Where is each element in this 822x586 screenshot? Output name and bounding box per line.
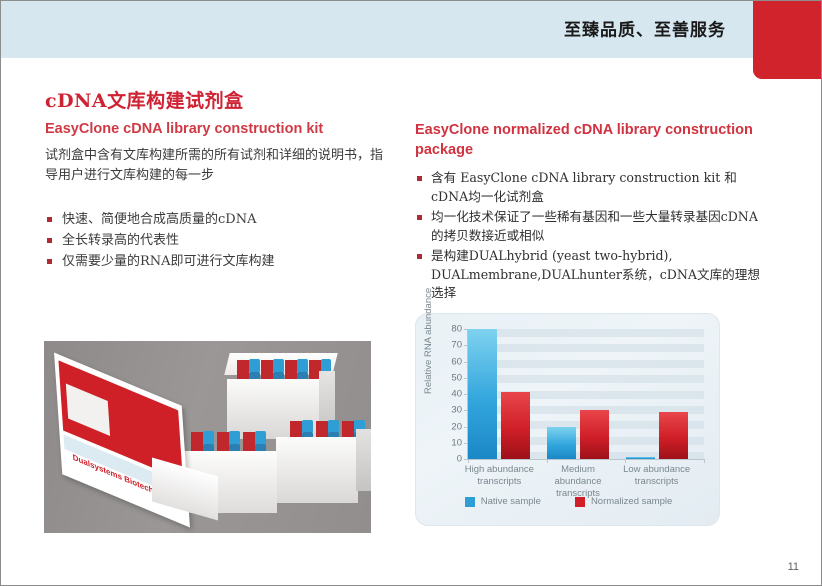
- chart-gridline: [468, 329, 704, 337]
- chart-y-tick-label: 0: [457, 454, 462, 465]
- chart-y-tick-label: 70: [451, 340, 462, 351]
- page-title-chinese: cDNA文库构建试剂盒: [45, 89, 395, 114]
- kit-box-lid-with-label: Dualsystems Biotech: [58, 381, 208, 511]
- chart-y-tick-label: 30: [451, 405, 462, 416]
- chart-legend-item: Native sample: [465, 496, 541, 507]
- chart-y-tick-mark: [464, 345, 468, 346]
- slide-canvas: 至臻品质、至善服务 cDNA文库构建试剂盒 EasyClone cDNA lib…: [0, 0, 822, 586]
- chart-legend-label: Native sample: [481, 496, 541, 507]
- page-number: 11: [788, 561, 799, 573]
- chart-x-tick-label: Medium abundancetranscripts: [539, 464, 618, 500]
- box-side-panel: [356, 429, 371, 491]
- chart-y-tick-label: 50: [451, 372, 462, 383]
- page-title-english: EasyClone cDNA library construction kit: [45, 120, 395, 140]
- right-content-column: EasyClone normalized cDNA library constr…: [415, 121, 765, 304]
- header-tagline: 至臻品质、至善服务: [564, 16, 726, 41]
- chart-gridline: [468, 360, 704, 368]
- header-red-accent-block: [753, 1, 822, 79]
- list-item: 仅需要少量的RNA即可进行文库构建: [45, 251, 395, 272]
- left-description-text: 试剂盒中含有文库构建所需的所有试剂和详细的说明书，指导用户进行文库构建的每一步: [45, 146, 395, 186]
- list-item: 含有 EasyClone cDNA library construction k…: [415, 169, 765, 207]
- list-item: 是构建DUALhybrid (yeast two-hybrid), DUALme…: [415, 247, 765, 304]
- box-front-panel: [276, 437, 358, 503]
- chart-bar: [547, 427, 576, 460]
- chart-y-axis-label: Relative RNA abundance: [423, 288, 434, 394]
- chart-y-tick-mark: [464, 362, 468, 363]
- chart-bar: [659, 412, 688, 459]
- left-content-column: cDNA文库构建试剂盒 EasyClone cDNA library const…: [45, 89, 395, 272]
- chart-y-tick-label: 60: [451, 356, 462, 367]
- list-item: 均一化技术保证了一些稀有基因和一些大量转录基因cDNA的拷贝数接近或相似: [415, 208, 765, 246]
- chart-y-tick-mark: [464, 443, 468, 444]
- chart-x-tick-label: High abundancetranscripts: [460, 464, 539, 488]
- chart-y-tick-mark: [464, 427, 468, 428]
- right-section-title: EasyClone normalized cDNA library constr…: [415, 121, 765, 160]
- chart-x-tick-mark: [547, 459, 548, 463]
- chart-x-axis-line: [467, 459, 704, 460]
- list-item: 全长转录高的代表性: [45, 230, 395, 251]
- chart-x-tick-mark: [468, 459, 469, 463]
- chart-y-tick-label: 40: [451, 389, 462, 400]
- chart-y-tick-label: 20: [451, 421, 462, 432]
- chart-gridline: [468, 344, 704, 352]
- chart-x-tick-mark: [625, 459, 626, 463]
- chart-y-tick-mark: [464, 378, 468, 379]
- chart-y-tick-mark: [464, 410, 468, 411]
- kit-box-right: [276, 419, 371, 505]
- chart-y-tick-label: 80: [451, 324, 462, 335]
- chart-bar: [468, 329, 497, 459]
- chart-plot-area: [468, 329, 704, 459]
- chart-bar: [501, 392, 530, 459]
- chart-x-tick-label: Low abundancetranscripts: [617, 464, 696, 488]
- chart-y-tick-mark: [464, 394, 468, 395]
- right-bullet-list: 含有 EasyClone cDNA library construction k…: [415, 169, 765, 303]
- product-photo: Dualsystems Biotech: [44, 341, 371, 533]
- list-item: 快速、简便地合成高质量的cDNA: [45, 209, 395, 230]
- chart-x-tick-mark: [704, 459, 705, 463]
- left-bullet-list: 快速、简便地合成高质量的cDNA 全长转录高的代表性 仅需要少量的RNA即可进行…: [45, 209, 395, 272]
- chart-y-tick-mark: [464, 329, 468, 330]
- rna-abundance-chart: Relative RNA abundance Native sampleNorm…: [415, 313, 720, 526]
- chart-bar: [580, 410, 609, 459]
- chart-y-tick-label: 10: [451, 437, 462, 448]
- chart-gridline: [468, 375, 704, 383]
- chart-legend-swatch: [465, 497, 475, 507]
